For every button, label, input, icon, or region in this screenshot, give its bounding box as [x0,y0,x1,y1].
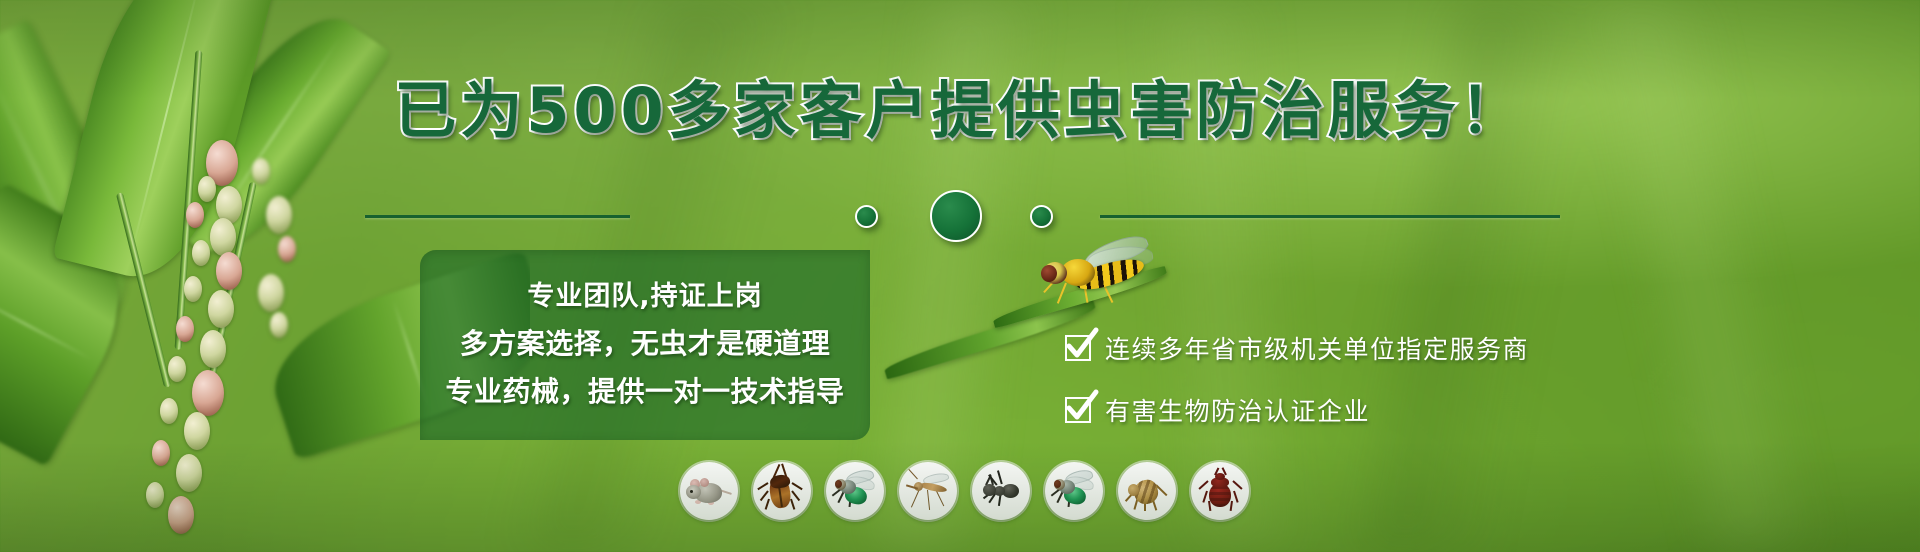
pest-control-hero-banner: 已为500多家客户提供虫害防治服务！ 专业团队,持证上岗 多方案选择，无虫才是硬… [0,0,1920,552]
background-vignette [0,0,1920,552]
